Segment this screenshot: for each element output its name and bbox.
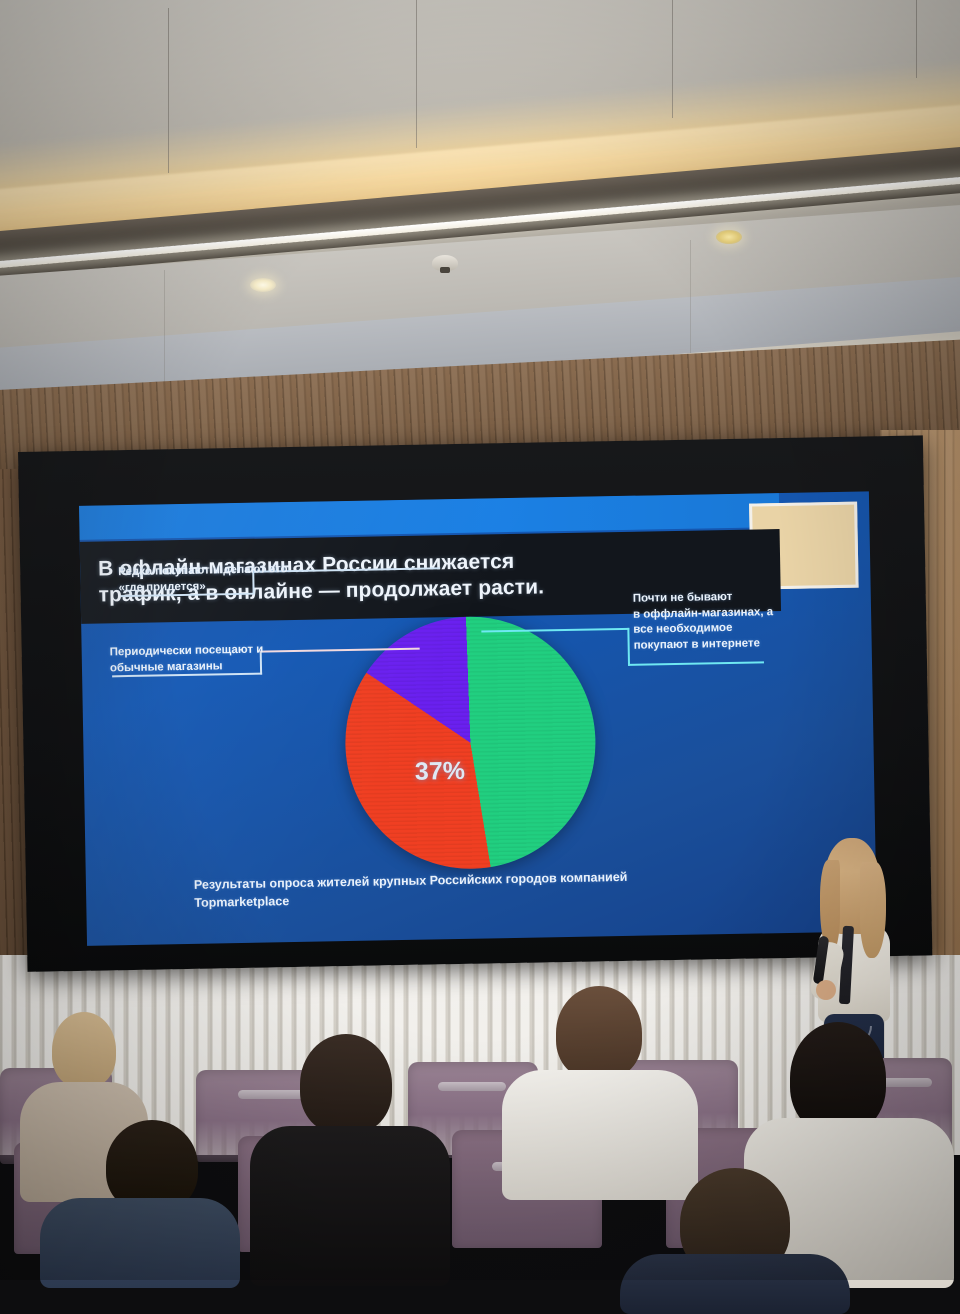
pie-slices [341, 612, 600, 873]
slide-footer-attribution: Результаты опроса жителей крупных Россий… [194, 865, 795, 912]
leader-line-right-vertical [627, 628, 630, 666]
callout-top-left: Редко покупают и делают это «где придетс… [118, 562, 309, 597]
audience-member-head [300, 1034, 392, 1134]
audience-member-torso [620, 1254, 850, 1314]
light-suspension-wire [916, 0, 917, 78]
light-suspension-wire [168, 8, 169, 173]
sprinkler-head [432, 255, 458, 271]
leader-line-right-underline [628, 661, 764, 665]
pie-percent-label: 37% [392, 756, 489, 787]
presentation-screen[interactable]: В офлайн-магазинах России снижается траф… [18, 435, 932, 971]
callout-right-line-4: покупают в интернете [634, 635, 834, 654]
speaker-hand [816, 980, 836, 1000]
speaker-hair-right-strand [860, 862, 886, 958]
light-suspension-wire [672, 0, 673, 118]
callout-right: Почти не бывают в оффлайн-магазинах, а в… [633, 588, 834, 654]
ceiling-spotlight [250, 278, 276, 292]
light-suspension-wire [416, 0, 417, 148]
pie-chart: 37% [343, 614, 598, 871]
audience-member-head [556, 986, 642, 1080]
callout-bottom-left-line-2: обычные магазины [110, 657, 300, 676]
ceiling-spotlight [716, 230, 742, 244]
seat-armrest [438, 1082, 506, 1091]
audience-member-torso [40, 1198, 240, 1288]
audience-member-torso [502, 1070, 698, 1200]
audience-member-head [52, 1012, 116, 1088]
callout-bottom-left: Периодически посещают и обычные магазины [110, 642, 301, 677]
light-suspension-wire [164, 270, 165, 390]
audience-member-torso [250, 1126, 450, 1286]
seat-armrest [238, 1090, 306, 1099]
slide-canvas: В офлайн-магазинах России снижается траф… [79, 491, 877, 945]
